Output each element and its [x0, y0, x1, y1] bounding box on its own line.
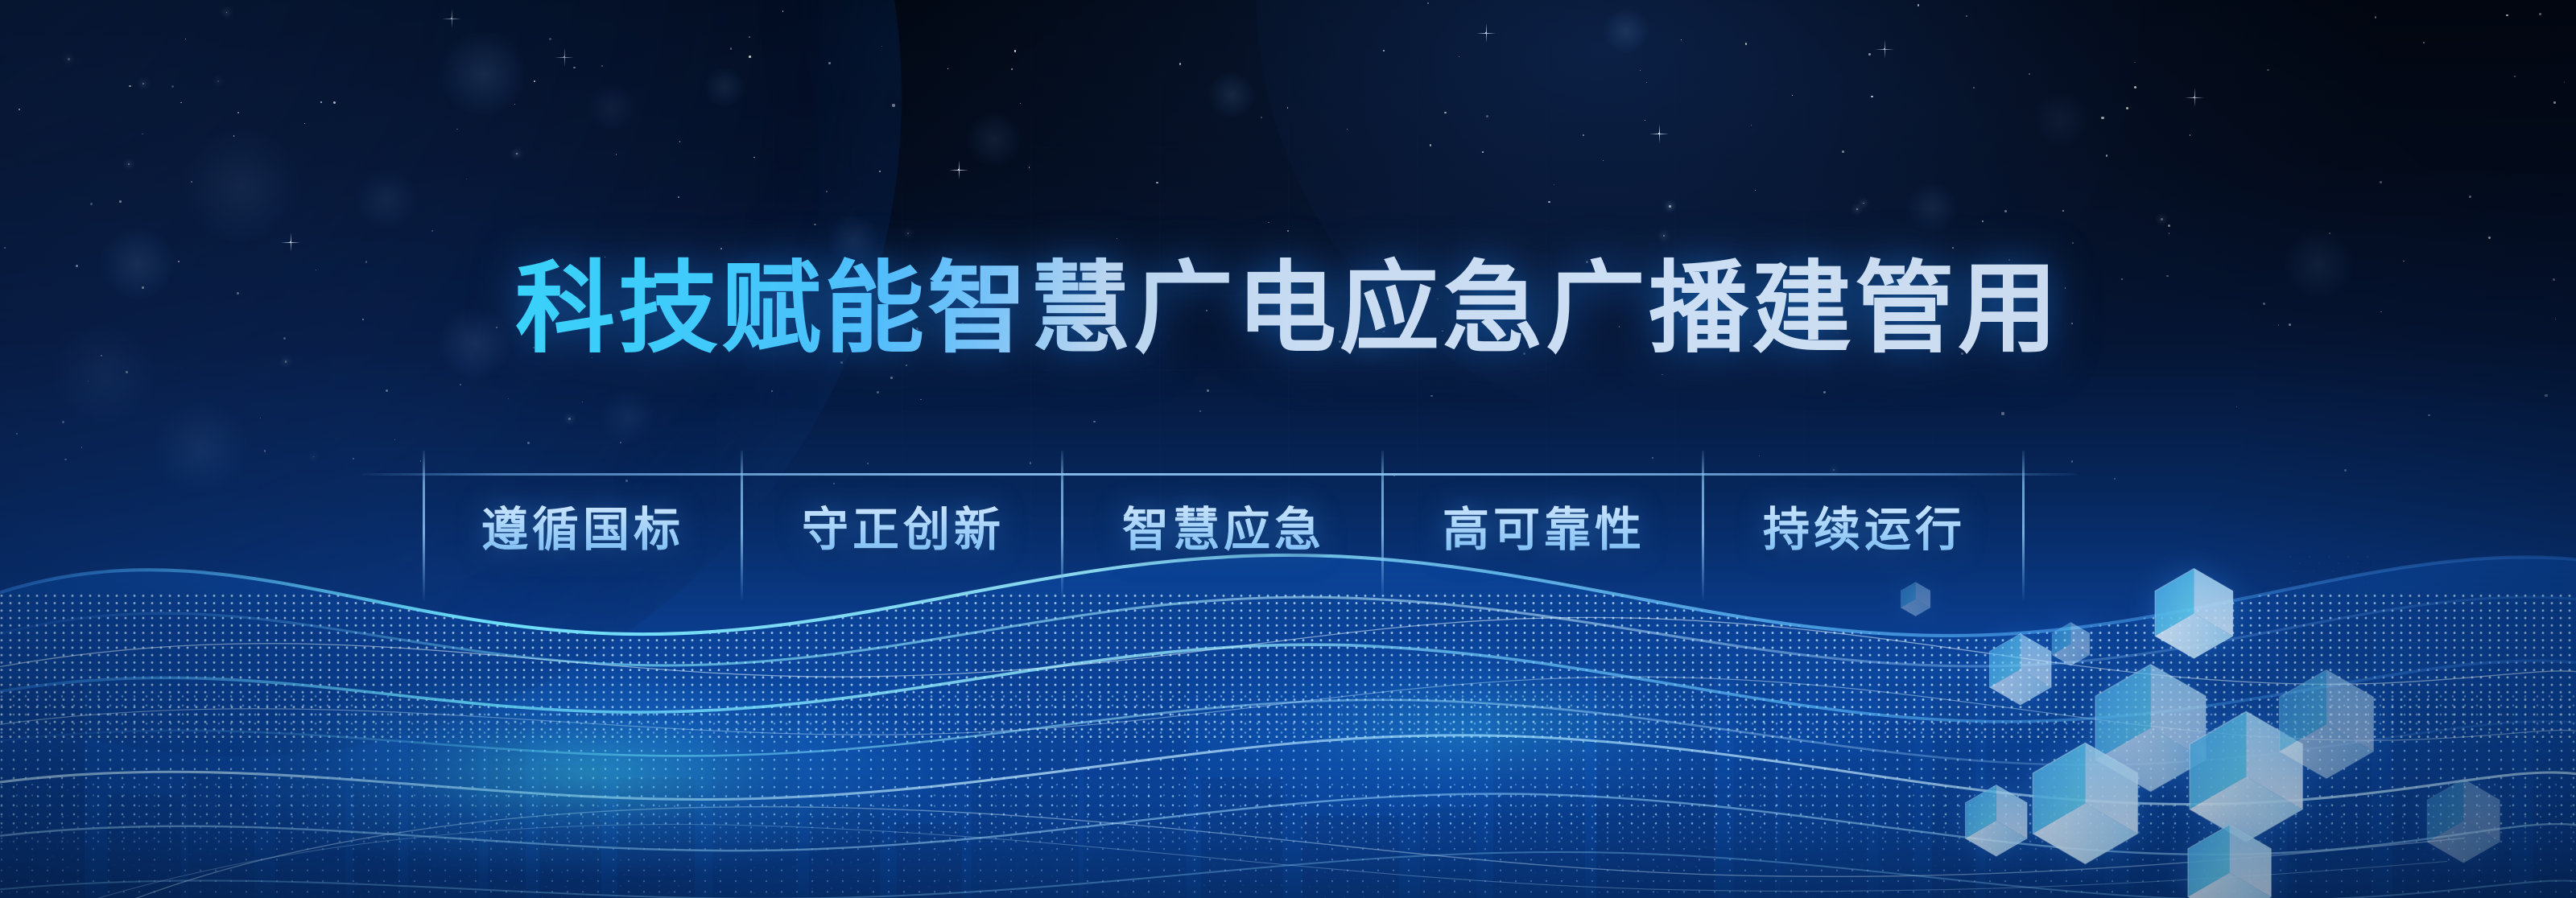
keyword-label: 智慧应急 — [1122, 492, 1325, 559]
tech-banner: 科技赋能智慧广电应急广播建管用 遵循国标 守正创新 智慧应急 高可靠性 — [0, 0, 2576, 898]
keyword-item-4[interactable]: 高可靠性 — [1384, 473, 1704, 578]
banner-title-row: 科技赋能智慧广电应急广播建管用 — [0, 256, 2576, 364]
keyword-label: 持续运行 — [1763, 492, 1966, 559]
keyword-item-5[interactable]: 持续运行 — [1704, 473, 2025, 578]
keyword-label: 守正创新 — [802, 492, 1005, 559]
keyword-bar: 遵循国标 守正创新 智慧应急 高可靠性 持续运行 — [362, 473, 2085, 578]
keyword-label: 高可靠性 — [1443, 492, 1645, 559]
keyword-item-2[interactable]: 守正创新 — [743, 473, 1063, 578]
page-title: 科技赋能智慧广电应急广播建管用 — [515, 256, 2061, 364]
keyword-item-3[interactable]: 智慧应急 — [1063, 473, 1384, 578]
keyword-item-1[interactable]: 遵循国标 — [423, 473, 743, 578]
banner-content: 科技赋能智慧广电应急广播建管用 遵循国标 守正创新 智慧应急 高可靠性 — [0, 0, 2576, 898]
keyword-divider-icon — [2022, 451, 2025, 600]
keyword-list: 遵循国标 守正创新 智慧应急 高可靠性 持续运行 — [423, 473, 2025, 578]
keyword-label: 遵循国标 — [481, 492, 684, 559]
